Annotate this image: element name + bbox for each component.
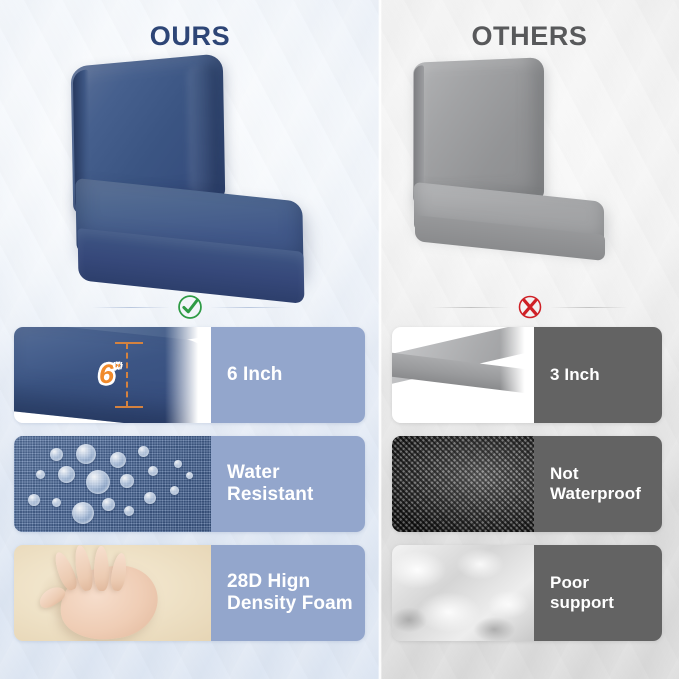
others-feature-card-water[interactable]: Not Waterproof	[392, 436, 662, 532]
label-line-2: Density Foam	[227, 593, 353, 615]
ours-feature-label-foam: 28D Hign Density Foam	[211, 545, 365, 641]
label-line-2: Waterproof	[550, 484, 641, 504]
ours-feature-label-water: Water Resistant	[211, 436, 365, 532]
thickness-callout: 6"	[99, 359, 120, 390]
image-fade	[500, 327, 534, 423]
label-line-2: support	[550, 593, 614, 613]
water-droplet	[36, 470, 45, 479]
water-droplet	[174, 460, 182, 468]
water-droplet	[144, 492, 156, 504]
image-fade	[165, 327, 211, 423]
water-droplet	[138, 446, 149, 457]
water-droplet	[148, 466, 158, 476]
water-droplet	[110, 452, 126, 468]
water-droplet	[58, 466, 75, 483]
ours-feature-list: 6" 6 Inch	[0, 327, 380, 664]
ours-verdict-row	[0, 287, 380, 327]
thick-navy-cushion-image: 6"	[14, 327, 211, 423]
ours-feature-card-foam[interactable]: 28D Hign Density Foam	[14, 545, 365, 641]
label-line-1: Poor	[550, 573, 614, 593]
label-line-2: Resistant	[227, 484, 313, 506]
water-droplet	[120, 474, 134, 488]
ours-heading: OURS	[0, 0, 380, 52]
ours-feature-card-thickness[interactable]: 6" 6 Inch	[14, 327, 365, 423]
others-feature-list: 3 Inch Not Waterproof Poor sup	[380, 327, 679, 664]
others-feature-label-water: Not Waterproof	[534, 436, 662, 532]
water-droplet	[52, 498, 61, 507]
gray-back-cushion	[413, 57, 544, 204]
water-droplet	[124, 506, 134, 516]
water-droplet	[28, 494, 40, 506]
cross-circle-icon	[516, 293, 544, 321]
comparison-infographic: OURS 6" 6	[0, 0, 679, 679]
label-line-1: Water	[227, 462, 313, 484]
water-droplet	[76, 444, 96, 464]
measurement-line	[126, 343, 128, 407]
check-circle-icon	[176, 293, 204, 321]
others-heading: OTHERS	[380, 0, 679, 52]
label-line-1: Not	[550, 464, 641, 484]
water-droplet	[72, 502, 94, 524]
others-column: OTHERS 3 Inch	[380, 0, 679, 679]
label-line-1: 28D Hign	[227, 571, 353, 593]
others-feature-card-support[interactable]: Poor support	[392, 545, 662, 641]
thin-gray-cushion-image	[392, 327, 534, 423]
water-droplets-image	[14, 436, 211, 532]
water-droplet	[186, 472, 193, 479]
verdict-rule-right	[550, 307, 628, 308]
finger-shape	[94, 546, 110, 591]
loose-fiber-fill-image	[392, 545, 534, 641]
water-droplet	[170, 486, 179, 495]
ours-hero-image	[0, 52, 380, 287]
water-droplet	[86, 470, 110, 494]
ours-feature-label-thickness: 6 Inch	[211, 327, 365, 423]
others-feature-label-thickness: 3 Inch	[534, 327, 662, 423]
ours-column: OURS 6" 6	[0, 0, 380, 679]
water-droplet	[102, 498, 115, 511]
column-divider	[378, 0, 382, 679]
gray-mesh-fabric-image	[392, 436, 534, 532]
others-hero-image	[380, 52, 679, 287]
others-feature-label-support: Poor support	[534, 545, 662, 641]
verdict-rule-left	[432, 307, 510, 308]
water-droplet	[50, 448, 63, 461]
ours-feature-card-water[interactable]: Water Resistant	[14, 436, 365, 532]
others-feature-card-thickness[interactable]: 3 Inch	[392, 327, 662, 423]
verdict-rule-left	[92, 307, 170, 308]
others-verdict-row	[380, 287, 679, 327]
verdict-rule-right	[210, 307, 288, 308]
hand-pressing-foam-image	[14, 545, 211, 641]
